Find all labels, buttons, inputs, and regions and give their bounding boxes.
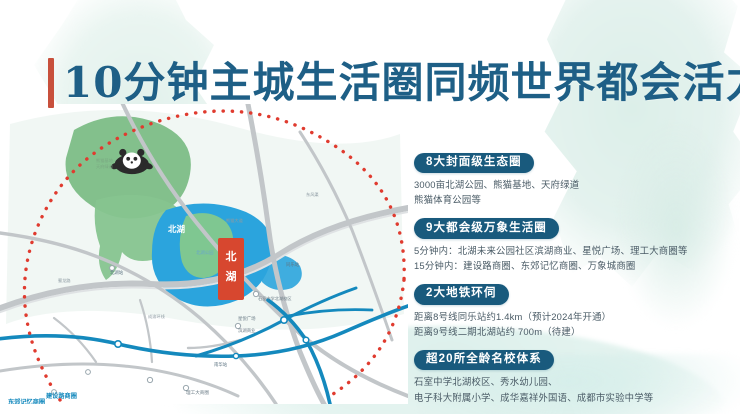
feature-list: 8大封面级生态圈 3000亩北湖公园、熊猫基地、天府绿道 熊猫体育公园等 9大都… <box>414 152 734 414</box>
feature-block-ecology: 8大封面级生态圈 3000亩北湖公园、熊猫基地、天府绿道 熊猫体育公园等 <box>414 152 734 208</box>
feature-block-commerce: 9大都会级万象生活圈 5分钟内：北湖未来公园社区滨湖商业、星悦广场、理工大商圈等… <box>414 218 734 274</box>
feature-block-metro: 2大地铁环伺 距离8号线同乐站约1.4km（预计2024年开通） 距离9号线二期… <box>414 283 734 339</box>
map-label: 熊猫大道 <box>226 217 244 224</box>
feature-line: 距离8号线同乐站约1.4km（预计2024年开通） <box>414 309 734 324</box>
feature-line: 3000亩北湖公园、熊猫基地、天府绿道 <box>414 177 734 192</box>
slide-canvas: 10分钟主城生活圈同频世界都会活力 <box>0 0 740 414</box>
project-marker: 北 湖 <box>218 238 244 300</box>
feature-badge-ecology: 8大封面级生态圈 <box>414 153 534 174</box>
page-title: 10分钟主城生活圈同频世界都会活力 <box>48 52 740 114</box>
map-label: 理工大商圈 <box>186 389 209 396</box>
map-label: 成渝环线 <box>148 313 166 320</box>
map-label: 滨湖商业 <box>238 327 256 334</box>
feature-detail-education: 石室中学北湖校区、秀水幼儿园、 电子科大附属小学、成华嘉祥外国语、成都市实验中学… <box>414 374 734 404</box>
map-label: 天府绿道 <box>96 163 114 170</box>
project-marker-label-1: 北 <box>226 249 237 263</box>
feature-line: 距离9号线二期北湖站约 700m（待建） <box>414 324 734 339</box>
map-label: 星悦广场 <box>238 315 256 322</box>
map-label: 北湖公园 <box>196 249 214 256</box>
map-label: 东郊记忆商圈 <box>8 398 45 404</box>
feature-detail-metro: 距离8号线同乐站约1.4km（预计2024年开通） 距离9号线二期北湖站约 70… <box>414 309 734 339</box>
feature-block-education: 超20所全龄名校体系 石室中学北湖校区、秀水幼儿园、 电子科大附属小学、成华嘉祥… <box>414 349 734 405</box>
feature-badge-metro: 2大地铁环伺 <box>414 284 509 305</box>
feature-line: 15分钟内：建设路商圈、东郊记忆商圈、万象城商圈 <box>414 258 734 273</box>
map-label: 蜀龙路 <box>58 277 71 284</box>
feature-detail-commerce: 5分钟内：北湖未来公园社区滨湖商业、星悦广场、理工大商圈等 15分钟内：建设路商… <box>414 243 734 273</box>
map-label: 石室中学北湖校区 <box>258 295 292 302</box>
feature-line: 5分钟内：北湖未来公园社区滨湖商业、星悦广场、理工大商圈等 <box>414 243 734 258</box>
map-label: 熊猫基地 <box>96 157 114 164</box>
map-label: 建设路商圈 <box>45 392 77 400</box>
title-accent-bar <box>48 58 54 108</box>
feature-badge-commerce: 9大都会级万象生活圈 <box>414 218 559 239</box>
feature-badge-education: 超20所全龄名校体系 <box>414 350 554 371</box>
feature-line: 石室中学北湖校区、秀水幼儿园、 <box>414 374 734 389</box>
feature-detail-ecology: 3000亩北湖公园、熊猫基地、天府绿道 熊猫体育公园等 <box>414 177 734 207</box>
project-marker-label-2: 湖 <box>226 269 237 283</box>
map-label: 北湖 <box>168 224 186 234</box>
feature-line: 电子科大附属小学、成华嘉祥外国语、成都市实验中学等 <box>414 390 734 405</box>
feature-line: 熊猫体育公园等 <box>414 192 734 207</box>
map-label: 东风渠 <box>306 191 319 198</box>
title-text: 10分钟主城生活圈同频世界都会活力 <box>63 62 740 104</box>
map-label: 南华站 <box>214 361 228 368</box>
map-label: 同乐站 <box>286 261 300 268</box>
map-label: 北湖站 <box>110 269 124 276</box>
location-map: 北 湖 北湖熊猫基地天府绿道北湖公园北湖站同乐站南华站建设路商圈东郊记忆商圈万象… <box>0 104 408 404</box>
